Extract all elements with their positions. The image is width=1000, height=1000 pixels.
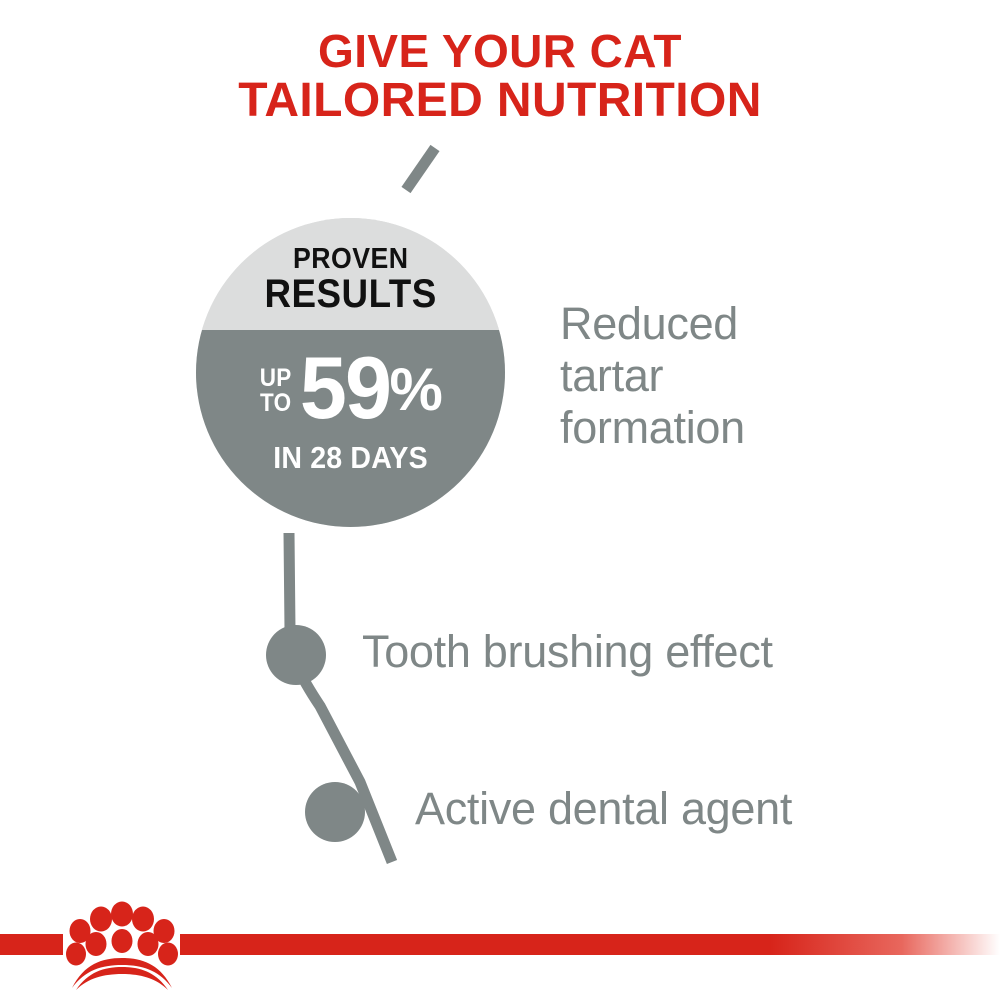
proven-results-badge: PROVEN RESULTS UP TO 59 % IN 28 DAYS [196,218,505,527]
badge-bottom-half: UP TO 59 % IN 28 DAYS [196,330,505,527]
badge-upto-label: UP TO [260,366,292,416]
bullet-dot-2 [305,782,365,842]
infographic-page: GIVE YOUR CAT TAILORED NUTRITION PROVEN … [0,0,1000,1000]
connector-curve [289,533,392,862]
benefit-text-1: Reduced tartar formation [560,298,745,454]
brand-bar-left-segment [0,934,63,955]
headline-line-2: TAILORED NUTRITION [0,76,1000,126]
benefit-text-3: Active dental agent [415,783,792,835]
badge-to-word: TO [260,391,292,416]
badge-top-half: PROVEN RESULTS [196,218,505,330]
badge-results-label: RESULTS [264,274,436,315]
connector-tick-top [406,148,435,190]
brand-bar-right-segment [180,934,1000,955]
badge-up-word: UP [260,366,292,391]
royal-canin-crown-icon [62,900,182,992]
benefit-text-2: Tooth brushing effect [362,626,773,678]
badge-percent-sign: % [389,360,442,420]
badge-value: 59 [299,344,389,432]
bullet-dot-1 [266,625,326,685]
badge-percent-row: UP TO 59 % [196,344,505,432]
badge-proven-label: PROVEN [293,244,408,274]
badge-duration: IN 28 DAYS [208,442,492,474]
headline-line-1: GIVE YOUR CAT [0,26,1000,76]
page-title: GIVE YOUR CAT TAILORED NUTRITION [0,26,1000,126]
